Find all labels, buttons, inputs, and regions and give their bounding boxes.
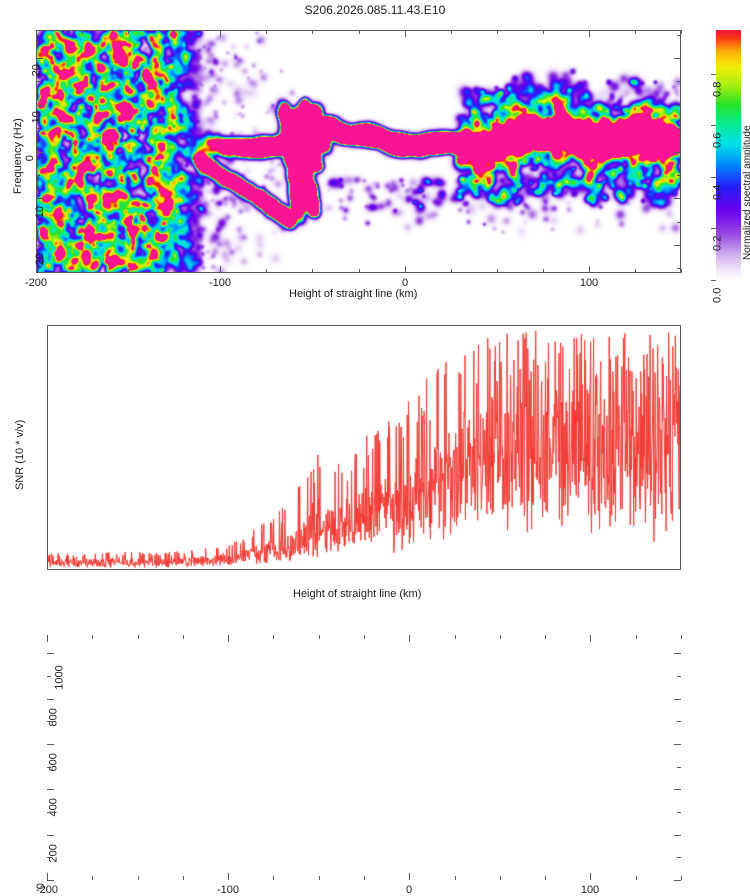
axis-tick: [47, 873, 48, 880]
axis-tick: [677, 812, 681, 813]
axis-tick: [36, 222, 40, 223]
axis-tick: [273, 876, 274, 880]
axis-tick: [500, 876, 501, 880]
axis-tick: [220, 30, 221, 37]
axis-tick: [228, 873, 229, 880]
axis-tick-label: 0: [35, 883, 47, 889]
axis-tick: [47, 676, 51, 677]
axis-tick-label: 100: [580, 277, 598, 289]
axis-tick: [319, 635, 320, 639]
colorbar-tick-label: 0.4: [711, 185, 723, 200]
axis-tick: [36, 245, 43, 246]
axis-tick: [47, 880, 54, 881]
axis-tick: [677, 857, 681, 858]
axis-tick: [674, 58, 681, 59]
spectrogram-panel: -200-1000100-20-1001020 Height of straig…: [0, 0, 750, 310]
axis-tick: [545, 876, 546, 880]
axis-tick: [364, 876, 365, 880]
colorbar-label: Normalized spectral amplitude: [742, 125, 750, 260]
axis-tick: [36, 81, 40, 82]
axis-tick: [674, 245, 681, 246]
axis-tick: [183, 635, 184, 639]
spectrogram-ylabel: Frequency (Hz): [12, 118, 24, 194]
axis-tick: [589, 266, 590, 273]
axis-tick-label: 0: [406, 884, 412, 896]
axis-tick: [47, 635, 48, 642]
axis-tick: [589, 30, 590, 37]
axis-tick-label: 10: [30, 111, 42, 123]
axis-tick: [92, 635, 93, 639]
axis-tick: [674, 653, 681, 654]
axis-tick-label: -10: [34, 206, 46, 222]
axis-tick: [636, 635, 637, 639]
axis-tick: [451, 30, 452, 34]
spectrogram-plot-area[interactable]: [36, 30, 681, 273]
axis-tick: [319, 876, 320, 880]
axis-tick: [681, 269, 682, 273]
spectrogram-xlabel: Height of straight line (km): [289, 288, 417, 300]
colorbar-tick-label: 0.2: [711, 236, 723, 251]
colorbar-tick-label: 0.8: [711, 82, 723, 97]
axis-tick: [635, 30, 636, 34]
colorbar-tick: [711, 177, 716, 178]
axis-tick: [500, 635, 501, 639]
axis-tick: [497, 30, 498, 34]
colorbar-tick: [711, 228, 716, 229]
axis-tick: [455, 635, 456, 639]
axis-tick-label: 20: [30, 64, 42, 76]
axis-tick: [128, 269, 129, 273]
axis-tick: [455, 876, 456, 880]
axis-tick: [677, 35, 681, 36]
axis-tick: [359, 269, 360, 273]
axis-tick: [543, 30, 544, 34]
axis-tick: [409, 873, 410, 880]
axis-tick: [82, 269, 83, 273]
axis-tick: [497, 269, 498, 273]
axis-tick: [266, 30, 267, 34]
axis-tick: [47, 835, 54, 836]
axis-tick: [47, 789, 54, 790]
axis-tick: [677, 175, 681, 176]
axis-tick: [636, 876, 637, 880]
axis-tick: [677, 268, 681, 269]
axis-tick: [36, 105, 43, 106]
axis-tick: [590, 873, 591, 880]
axis-tick: [681, 30, 682, 34]
axis-tick: [47, 653, 54, 654]
colorbar-tick: [711, 280, 716, 281]
axis-tick: [36, 268, 40, 269]
axis-tick-label: 800: [47, 708, 59, 726]
axis-tick: [273, 635, 274, 639]
axis-tick-label: -100: [209, 277, 231, 289]
axis-tick-label: 1000: [53, 665, 65, 689]
snr-xlabel: Height of straight line (km): [293, 588, 421, 600]
snr-ylabel: SNR (10 * v/v): [14, 420, 26, 490]
axis-tick: [174, 269, 175, 273]
axis-tick: [451, 269, 452, 273]
axis-tick: [677, 767, 681, 768]
axis-tick: [677, 128, 681, 129]
colorbar-tick: [711, 74, 716, 75]
axis-tick: [677, 81, 681, 82]
axis-tick-label: -100: [217, 884, 239, 896]
axis-tick: [36, 58, 43, 59]
axis-tick: [674, 198, 681, 199]
axis-tick: [36, 175, 40, 176]
axis-tick: [590, 635, 591, 642]
axis-tick: [674, 789, 681, 790]
axis-tick: [228, 635, 229, 642]
axis-tick: [47, 767, 51, 768]
axis-tick: [677, 222, 681, 223]
axis-tick-label: -20: [34, 253, 46, 269]
axis-tick: [220, 266, 221, 273]
axis-tick: [674, 152, 681, 153]
axis-tick-label: 600: [47, 753, 59, 771]
axis-tick: [677, 676, 681, 677]
axis-tick: [266, 269, 267, 273]
axis-tick-label: 100: [581, 884, 599, 896]
axis-tick: [674, 744, 681, 745]
colorbar-tick-label: 0.0: [711, 288, 723, 303]
axis-tick-label: -200: [25, 277, 47, 289]
axis-tick: [545, 635, 546, 639]
axis-tick: [92, 876, 93, 880]
axis-tick: [359, 30, 360, 34]
axis-tick: [364, 635, 365, 639]
snr-panel: -200-100010002004006008001000 Height of …: [0, 310, 750, 600]
axis-tick: [674, 105, 681, 106]
axis-tick: [47, 857, 51, 858]
axis-tick: [47, 744, 54, 745]
axis-tick: [312, 30, 313, 34]
axis-tick: [677, 721, 681, 722]
figure-root: S206.2026.085.11.43.E10 -200-1000100-20-…: [0, 0, 750, 600]
colorbar-tick: [711, 125, 716, 126]
axis-tick-label: 200: [47, 844, 59, 862]
axis-tick: [183, 876, 184, 880]
axis-tick: [128, 30, 129, 34]
axis-tick: [681, 635, 682, 639]
axis-tick: [36, 198, 43, 199]
axis-tick: [47, 721, 51, 722]
axis-tick: [47, 699, 54, 700]
axis-tick: [36, 128, 40, 129]
axis-tick: [674, 880, 681, 881]
axis-tick: [47, 812, 51, 813]
axis-tick: [36, 35, 40, 36]
axis-tick: [405, 266, 406, 273]
axis-tick: [138, 635, 139, 639]
axis-tick: [635, 269, 636, 273]
axis-tick: [681, 876, 682, 880]
axis-tick: [138, 876, 139, 880]
axis-tick-label: 400: [47, 798, 59, 816]
axis-tick: [312, 269, 313, 273]
snr-plot-area[interactable]: [47, 325, 681, 570]
axis-tick: [82, 30, 83, 34]
axis-tick: [543, 269, 544, 273]
axis-tick: [174, 30, 175, 34]
colorbar-tick-label: 0.6: [711, 133, 723, 148]
axis-tick: [674, 699, 681, 700]
axis-tick: [674, 835, 681, 836]
axis-tick: [36, 152, 43, 153]
axis-tick: [409, 635, 410, 642]
axis-tick: [405, 30, 406, 37]
axis-tick-label: 0: [24, 155, 36, 161]
